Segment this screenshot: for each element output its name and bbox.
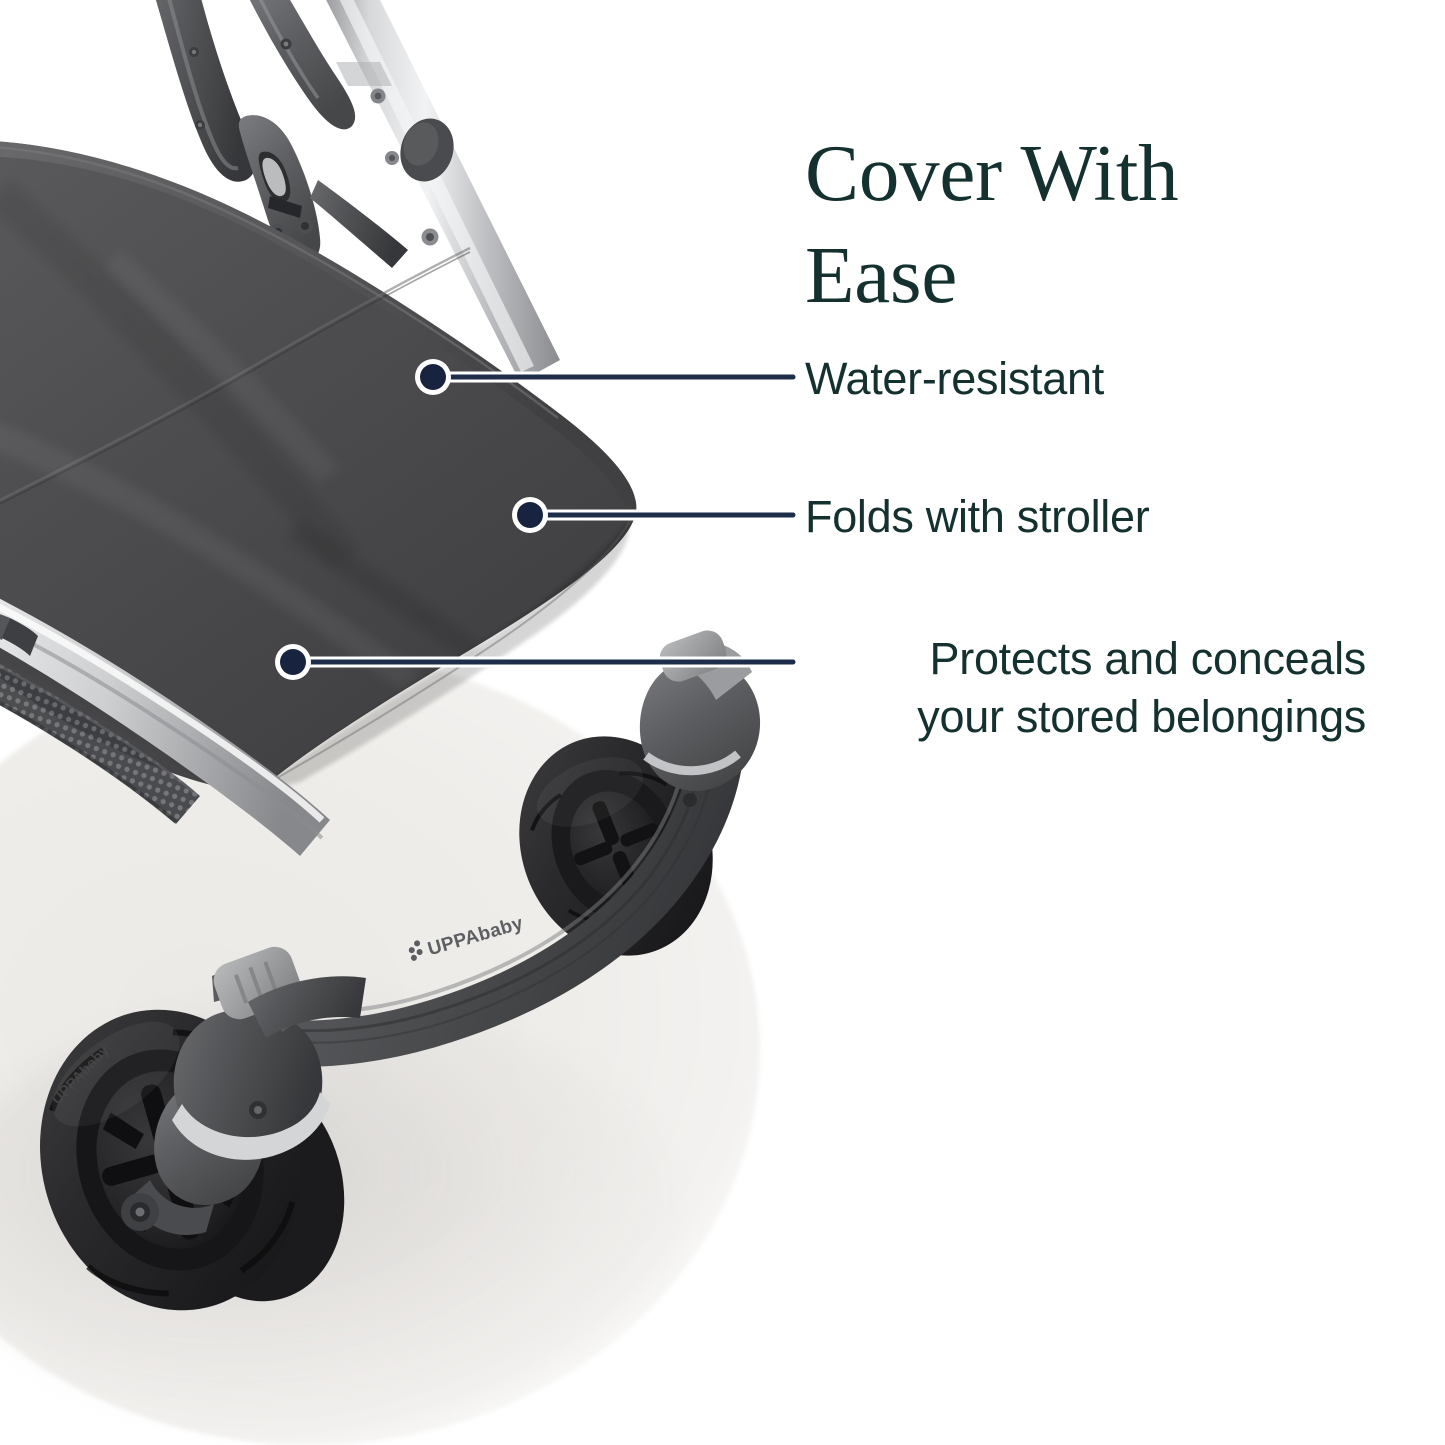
feature-label-water-resistant: Water-resistant [805,350,1405,408]
feature-label-line-1: Protects and conceals [930,633,1366,684]
product-feature-graphic: UPPAbaby [0,0,1445,1445]
feature-label-line-2: your stored belongings [917,691,1366,742]
page-title-line-2: Ease [805,230,957,320]
page-title: Cover With Ease [805,122,1365,326]
uppababy-brand-logo: UPPAbaby [407,911,526,965]
feature-label-protects-and-conceals: Protects and conceals your stored belong… [798,630,1366,745]
feature-text-column: Cover With Ease Water-resistant Folds wi… [800,0,1420,1445]
page-title-line-1: Cover With [805,128,1178,218]
svg-text:UPPAbaby: UPPAbaby [425,913,525,960]
product-photo: UPPAbaby [0,0,790,1380]
feature-label-folds-with-stroller: Folds with stroller [805,488,1405,546]
